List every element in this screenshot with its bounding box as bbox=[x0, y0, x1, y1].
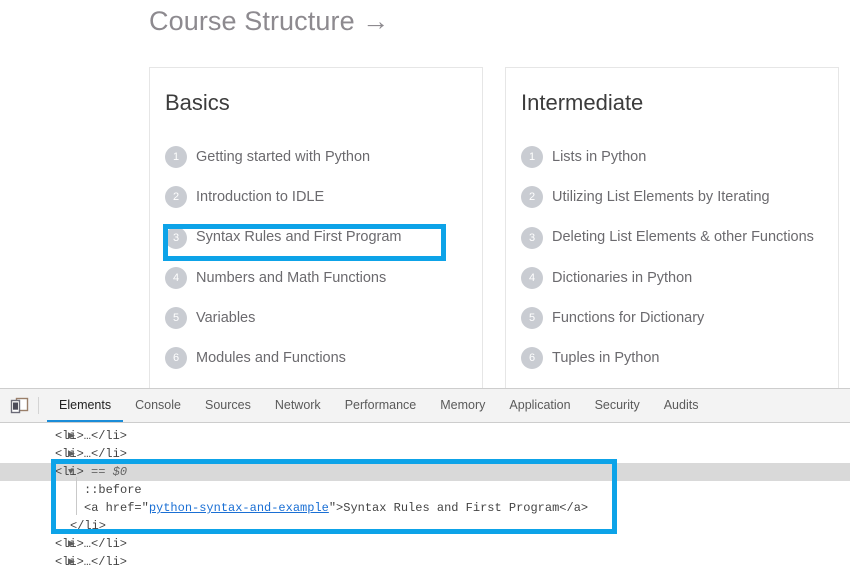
item-label[interactable]: Deleting List Elements & other Functions bbox=[552, 230, 814, 246]
tab-memory[interactable]: Memory bbox=[428, 389, 497, 422]
item-label[interactable]: Getting started with Python bbox=[196, 149, 370, 165]
list-item[interactable]: 1Lists in Python bbox=[521, 146, 828, 168]
tab-elements[interactable]: Elements bbox=[47, 389, 123, 422]
card-title-intermediate: Intermediate bbox=[521, 90, 643, 116]
tab-application[interactable]: Application bbox=[497, 389, 582, 422]
expand-triangle-icon[interactable]: ▶ bbox=[68, 427, 78, 445]
course-item-list-intermediate: 1Lists in Python 2Utilizing List Element… bbox=[521, 146, 828, 387]
expand-triangle-icon[interactable]: ▶ bbox=[68, 553, 78, 571]
anchor-open-tag: <a href= bbox=[84, 501, 142, 515]
anchor-close-tag: </a> bbox=[559, 501, 588, 515]
item-number-badge: 5 bbox=[521, 307, 543, 329]
item-label[interactable]: Utilizing List Elements by Iterating bbox=[552, 189, 770, 205]
item-number-badge: 3 bbox=[165, 227, 187, 249]
card-title-basics: Basics bbox=[165, 90, 230, 116]
item-label[interactable]: Syntax Rules and First Program bbox=[196, 230, 402, 246]
dom-selection-marker: == $0 bbox=[91, 465, 127, 479]
course-card-intermediate: Intermediate 1Lists in Python 2Utilizing… bbox=[505, 67, 839, 388]
tab-sources[interactable]: Sources bbox=[193, 389, 263, 422]
list-item[interactable]: 1Getting started with Python bbox=[165, 146, 472, 168]
devtools-panel: Elements Console Sources Network Perform… bbox=[0, 388, 850, 567]
list-item[interactable]: 3Deleting List Elements & other Function… bbox=[521, 226, 828, 248]
tab-audits[interactable]: Audits bbox=[652, 389, 711, 422]
item-number-badge: 2 bbox=[521, 186, 543, 208]
devtools-toolbar: Elements Console Sources Network Perform… bbox=[0, 389, 850, 423]
dom-row-anchor[interactable]: <a href="python-syntax-and-example">Synt… bbox=[0, 499, 850, 517]
item-number-badge: 4 bbox=[165, 267, 187, 289]
item-number-badge: 6 bbox=[521, 347, 543, 369]
item-label[interactable]: Modules and Functions bbox=[196, 350, 346, 366]
web-page-viewport: Course Structure → Basics 1Getting start… bbox=[0, 0, 850, 388]
item-number-badge: 1 bbox=[165, 146, 187, 168]
list-item[interactable]: 5Functions for Dictionary bbox=[521, 307, 828, 329]
dom-row-markup: <li>…</li> bbox=[55, 537, 127, 551]
pseudo-element-label: ::before bbox=[84, 483, 142, 497]
item-number-badge: 2 bbox=[165, 186, 187, 208]
list-item[interactable]: 4Dictionaries in Python bbox=[521, 267, 828, 289]
dom-row-markup: <li>…</li> bbox=[55, 447, 127, 461]
dom-row[interactable]: ▶<li>…</li> bbox=[0, 553, 850, 571]
toolbar-divider bbox=[38, 397, 39, 414]
item-label[interactable]: Tuples in Python bbox=[552, 350, 659, 366]
item-label[interactable]: Dictionaries in Python bbox=[552, 270, 692, 286]
tab-console[interactable]: Console bbox=[123, 389, 193, 422]
dom-row-pseudo-before[interactable]: ::before bbox=[0, 481, 850, 499]
item-number-badge: 4 bbox=[521, 267, 543, 289]
dom-close-tag: </li> bbox=[70, 519, 106, 533]
list-item[interactable]: 2Introduction to IDLE bbox=[165, 186, 472, 208]
tab-network[interactable]: Network bbox=[263, 389, 333, 422]
item-number-badge: 3 bbox=[521, 227, 543, 249]
course-card-basics: Basics 1Getting started with Python 2Int… bbox=[149, 67, 483, 388]
list-item[interactable]: 2Utilizing List Elements by Iterating bbox=[521, 186, 828, 208]
tab-security[interactable]: Security bbox=[583, 389, 652, 422]
dom-row[interactable]: ▶<li>…</li> bbox=[0, 535, 850, 553]
dom-indent-guide bbox=[76, 477, 77, 515]
devtools-tab-strip: Elements Console Sources Network Perform… bbox=[47, 389, 710, 422]
device-toolbar-icon[interactable] bbox=[0, 389, 38, 422]
list-item-selected[interactable]: 3Syntax Rules and First Program bbox=[165, 226, 472, 248]
tab-performance[interactable]: Performance bbox=[333, 389, 429, 422]
list-item[interactable]: 6Tuples in Python bbox=[521, 347, 828, 369]
page-title: Course Structure → bbox=[149, 6, 389, 37]
dom-row-selected[interactable]: ▼<li> == $0 bbox=[0, 463, 850, 481]
list-item[interactable]: 5Variables bbox=[165, 307, 472, 329]
item-number-badge: 6 bbox=[165, 347, 187, 369]
dom-row-close-tag[interactable]: </li> bbox=[0, 517, 850, 535]
course-item-list-basics: 1Getting started with Python 2Introducti… bbox=[165, 146, 472, 387]
item-number-badge: 1 bbox=[521, 146, 543, 168]
dom-tree[interactable]: ▶<li>…</li> ▶<li>…</li> ▼<li> == $0 ::be… bbox=[0, 423, 850, 571]
list-item[interactable]: 6Modules and Functions bbox=[165, 347, 472, 369]
item-label[interactable]: Lists in Python bbox=[552, 149, 646, 165]
dom-row[interactable]: ▶<li>…</li> bbox=[0, 427, 850, 445]
item-label[interactable]: Functions for Dictionary bbox=[552, 310, 704, 326]
item-label[interactable]: Variables bbox=[196, 310, 255, 326]
href-value-link[interactable]: python-syntax-and-example bbox=[149, 501, 329, 515]
quote-open: " bbox=[142, 501, 149, 515]
list-item[interactable]: 4Numbers and Math Functions bbox=[165, 267, 472, 289]
item-label[interactable]: Introduction to IDLE bbox=[196, 189, 324, 205]
anchor-text-node: Syntax Rules and First Program bbox=[343, 501, 559, 515]
item-label[interactable]: Numbers and Math Functions bbox=[196, 270, 386, 286]
item-number-badge: 5 bbox=[165, 307, 187, 329]
quote-close: " bbox=[329, 501, 336, 515]
expand-triangle-icon[interactable]: ▶ bbox=[68, 535, 78, 553]
dom-row-markup: <li>…</li> bbox=[55, 429, 127, 443]
expand-triangle-icon[interactable]: ▶ bbox=[68, 445, 78, 463]
dom-row[interactable]: ▶<li>…</li> bbox=[0, 445, 850, 463]
